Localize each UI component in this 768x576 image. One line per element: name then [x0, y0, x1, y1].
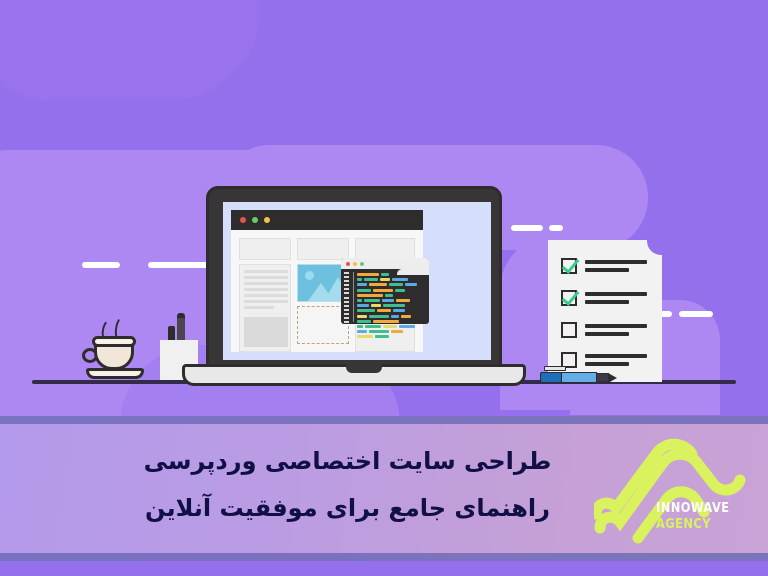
sun-icon: [305, 271, 314, 280]
headline-line-2: راهنمای جامع برای موفقیت آنلاین: [120, 485, 575, 532]
decorative-dash-3: [511, 225, 543, 231]
pen-barrel: [561, 372, 597, 383]
code-line: [357, 335, 427, 338]
headline-line-1: طراحی سایت اختصاصی وردپرسی: [120, 438, 575, 485]
gutter-divider: [353, 272, 354, 322]
paper-corner-fold: [647, 240, 662, 255]
checklist-row: [561, 322, 653, 344]
decorative-dash-6: [679, 311, 713, 317]
checklist-text-line: [585, 362, 629, 366]
banner-top-rule: [0, 416, 768, 424]
blue-pen: [540, 370, 618, 383]
maximize-icon: [264, 217, 270, 223]
code-line: [357, 273, 427, 276]
pen-tip: [608, 373, 617, 383]
layout-block-thumb: [244, 317, 288, 347]
code-line: [357, 283, 427, 286]
illustration-canvas: طراحی سایت اختصاصی وردپرسی راهنمای جامع …: [0, 0, 768, 576]
checkbox-checked: [561, 258, 577, 274]
banner-footer-strip: [0, 561, 768, 576]
checklist-paper: [548, 240, 662, 382]
close-icon: [240, 217, 246, 223]
laptop-hinge-notch: [346, 364, 382, 373]
maximize-icon: [360, 262, 364, 266]
checklist-text-line: [585, 292, 647, 296]
code-editor-window: [341, 258, 429, 324]
banner-bottom-rule: [0, 553, 768, 561]
code-line: [357, 315, 427, 318]
code-line: [357, 309, 427, 312]
checklist-text-line: [585, 300, 629, 304]
layout-block-header-middle: [297, 238, 349, 260]
code-line: [357, 304, 427, 307]
browser-titlebar: [231, 210, 423, 230]
coffee-cup: [84, 324, 146, 382]
pen-clip: [544, 366, 566, 371]
laptop-lid: [206, 186, 502, 372]
banner-headline: طراحی سایت اختصاصی وردپرسی راهنمای جامع …: [120, 438, 575, 532]
layout-block-header-left: [239, 238, 291, 260]
innowave-agency-logo: INNOWAVE AGENCY: [594, 432, 754, 544]
laptop-screen: [223, 202, 491, 360]
cup-saucer: [86, 368, 144, 379]
code-editor-titlebar: [341, 258, 429, 269]
checklist-text-line: [585, 332, 629, 336]
text-line: [244, 276, 288, 279]
text-line: [244, 300, 288, 303]
minimize-icon: [353, 262, 357, 266]
line-number-gutter: [344, 272, 350, 322]
background-blob-top: [0, 0, 260, 100]
cup-rim: [92, 336, 136, 347]
checklist-text-line: [585, 324, 647, 328]
text-line: [244, 306, 274, 309]
checklist-text-line: [585, 354, 647, 358]
minimize-icon: [252, 217, 258, 223]
checklist-text-line: [585, 260, 647, 264]
close-icon: [346, 262, 350, 266]
checklist-text-line: [585, 268, 629, 272]
code-line: [357, 325, 427, 328]
logo-wordmark: INNOWAVE AGENCY: [656, 502, 740, 531]
logo-line-2: AGENCY: [656, 518, 730, 531]
logo-line-1: INNOWAVE: [656, 502, 730, 515]
layout-block-sidebar: [239, 264, 291, 352]
checklist-row: [561, 258, 653, 280]
text-line: [244, 282, 288, 285]
code-line: [357, 320, 427, 323]
text-line: [244, 270, 288, 273]
check-icon: [562, 287, 580, 306]
checkbox-checked: [561, 290, 577, 306]
text-line: [244, 288, 288, 291]
checkbox-empty: [561, 322, 577, 338]
checklist-row: [561, 290, 653, 312]
check-icon: [562, 255, 580, 274]
code-line: [357, 294, 427, 297]
code-line: [357, 299, 427, 302]
laptop: [198, 186, 510, 386]
decorative-dash-4: [549, 225, 563, 231]
code-line: [357, 278, 427, 281]
pen-cap: [540, 372, 562, 383]
text-line: [244, 294, 288, 297]
code-lines: [357, 273, 427, 340]
code-line: [357, 330, 427, 333]
decorative-dash-1: [82, 262, 120, 268]
code-line: [357, 289, 427, 292]
